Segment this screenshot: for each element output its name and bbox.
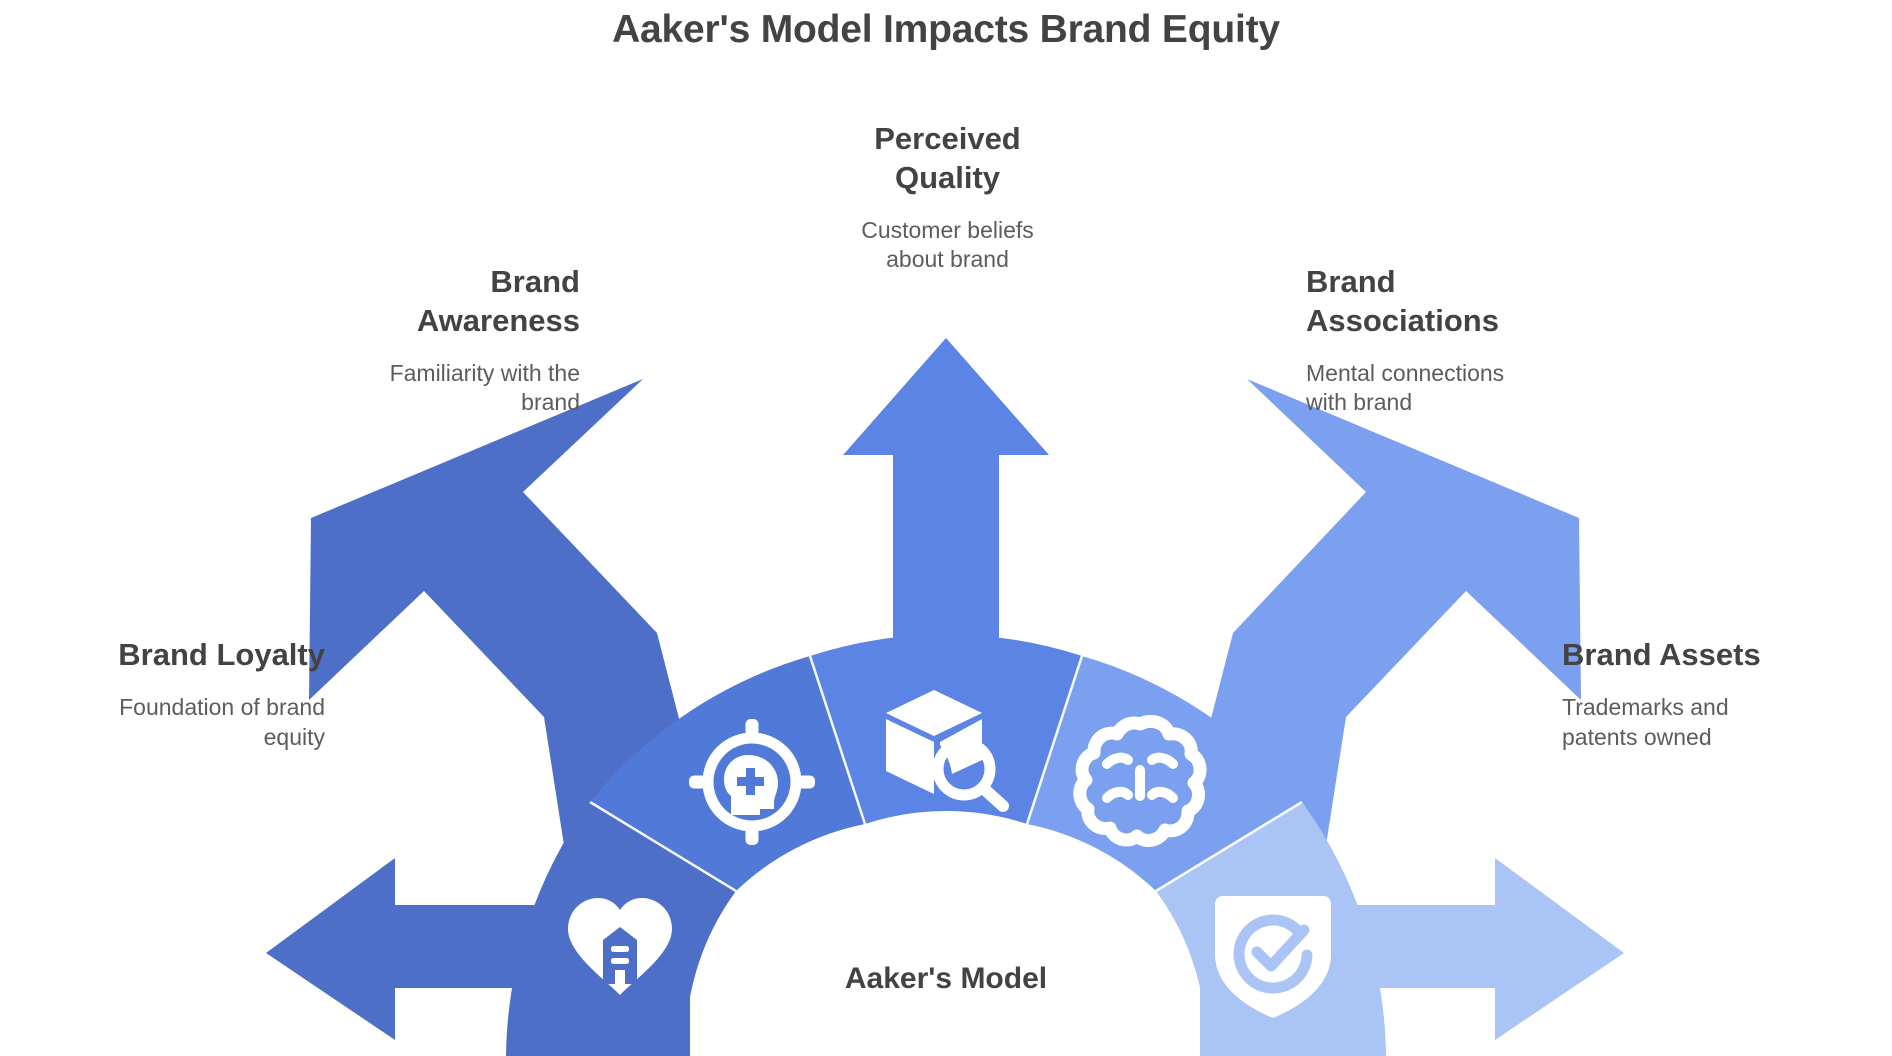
center-label: Aaker's Model [706,962,1186,996]
node-desc-brand-associations: Mental connections with brand [1306,359,1636,419]
node-label-brand-assets: Brand Assets Trademarks and patents owne… [1562,636,1862,753]
node-desc-brand-awareness: Familiarity with the brand [255,359,580,419]
node-heading-brand-loyalty: Brand Loyalty [40,636,325,675]
node-heading-brand-awareness: Brand Awareness [255,263,580,341]
node-desc-brand-loyalty: Foundation of brand equity [40,693,325,753]
node-desc-brand-assets: Trademarks and patents owned [1562,693,1862,753]
node-heading-brand-associations: Brand Associations [1306,263,1636,341]
node-heading-perceived-quality: Perceived Quality [770,120,1125,198]
node-heading-brand-assets: Brand Assets [1562,636,1862,675]
node-label-brand-loyalty: Brand Loyalty Foundation of brand equity [40,636,325,753]
node-label-perceived-quality: Perceived Quality Customer beliefs about… [770,120,1125,275]
node-desc-perceived-quality: Customer beliefs about brand [770,216,1125,276]
node-label-brand-associations: Brand Associations Mental connections wi… [1306,263,1636,418]
node-label-brand-awareness: Brand Awareness Familiarity with the bra… [255,263,580,418]
